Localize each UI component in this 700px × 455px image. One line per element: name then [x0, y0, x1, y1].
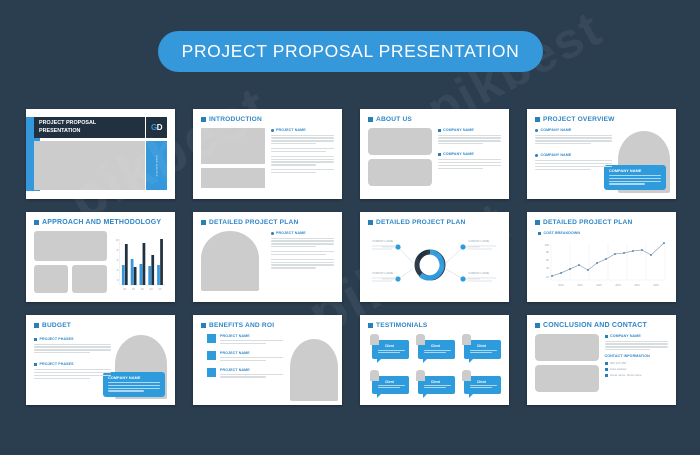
cover-website-strip: www.website: [146, 141, 167, 190]
benefit-icon: [207, 351, 216, 360]
svg-text:40: 40: [546, 266, 549, 270]
square-bullet-icon: [535, 220, 540, 225]
contact-heading: CONTACT INFORMATION: [605, 354, 669, 358]
line-chart: 100 80 60 40 20: [535, 238, 668, 292]
testimonial-card[interactable]: Client: [460, 334, 501, 365]
slide-heading: CONCLUSION AND CONTACT: [535, 322, 668, 329]
block-label-row: PROJECT PHASES: [34, 362, 111, 366]
bar-chart: 100 80 60 40 20: [112, 231, 167, 295]
overlay-card-title: COMPANY NAME: [609, 169, 661, 173]
cover-header-bar: PROJECT PROPOSAL PRESENTATION: [34, 117, 145, 138]
website-label: www.website: [155, 155, 159, 177]
slide-title: DETAILED PROJECT PLAN: [376, 219, 465, 226]
benefit-row: PROJECT NAME: [207, 368, 283, 380]
slide-title: PROJECT OVERVIEW: [543, 116, 615, 123]
svg-text:60: 60: [117, 259, 119, 263]
body-paragraph: [271, 169, 335, 173]
svg-text:2020: 2020: [558, 284, 564, 287]
svg-text:20: 20: [117, 279, 119, 283]
svg-text:2021: 2021: [577, 284, 583, 287]
svg-text:40: 40: [117, 269, 119, 273]
slide-title: APPROACH AND METHODOLOGY: [42, 219, 161, 226]
slide-heading: DETAILED PROJECT PLAN: [201, 219, 334, 226]
testimonial-name: Client: [431, 380, 451, 384]
svg-text:COMPANY NAME: COMPANY NAME: [372, 271, 393, 275]
square-bullet-icon: [438, 129, 441, 132]
dot-bullet-icon: [535, 129, 538, 132]
section-label-row: PROJECT NAME: [271, 231, 335, 235]
cover-title-line1: PROJECT PROPOSAL: [39, 120, 96, 126]
square-bullet-icon: [438, 153, 441, 156]
benefit-label: PROJECT NAME: [220, 368, 283, 372]
arch-image-placeholder: [201, 231, 259, 291]
svg-text:100: 100: [116, 239, 119, 243]
slide-title: ABOUT US: [376, 116, 412, 123]
section-label: COMPANY NAME: [610, 334, 641, 338]
arch-image-placeholder: [290, 339, 338, 401]
contact-item: 000 123 456: [605, 361, 669, 365]
svg-text:2024: 2024: [634, 284, 640, 287]
svg-text:2024: 2024: [158, 289, 162, 291]
slide-title: INTRODUCTION: [209, 116, 262, 123]
section-label: PROJECT NAME: [276, 128, 306, 132]
slide-testimonials[interactable]: TESTIMONIALS Client Client: [360, 315, 509, 405]
logo-badge: GD: [146, 117, 167, 138]
body-paragraph: [271, 135, 335, 145]
avatar: [462, 370, 471, 381]
dot-bullet-icon: [535, 154, 538, 157]
body-paragraph: [271, 156, 335, 166]
slide-budget[interactable]: BUDGET PROJECT PHASES PROJECT PHASES: [26, 315, 175, 405]
square-bullet-icon: [368, 117, 373, 122]
logo-letter-d: D: [157, 123, 162, 132]
svg-text:2025: 2025: [653, 284, 659, 287]
slide-heading: PROJECT OVERVIEW: [535, 116, 668, 123]
slide-detailed-plan-donut[interactable]: DETAILED PROJECT PLAN: [360, 212, 509, 302]
donut-diagram: COMPANY NAME COMPANY NAME COMPANY NAME C…: [368, 231, 501, 295]
slide-title: BENEFITS AND ROI: [209, 322, 274, 329]
square-bullet-icon: [201, 323, 206, 328]
body-paragraph: [605, 341, 669, 351]
slide-benefits-roi[interactable]: BENEFITS AND ROI PROJECT NAME PROJECT NA…: [193, 315, 342, 405]
section-label-row: COMPANY NAME: [605, 334, 669, 338]
overlay-card[interactable]: COMPANY NAME: [604, 165, 666, 190]
overlay-card[interactable]: COMPANY NAME: [103, 372, 165, 397]
section-label: COST BREAKDOWN: [544, 231, 581, 235]
contact-text: street name, block name: [610, 373, 642, 377]
square-bullet-icon: [368, 323, 373, 328]
svg-text:COMPANY NAME: COMPANY NAME: [372, 239, 393, 243]
square-bullet-icon: [34, 220, 39, 225]
block-label: PROJECT PHASES: [40, 337, 74, 341]
slide-approach-methodology[interactable]: APPROACH AND METHODOLOGY: [26, 212, 175, 302]
svg-text:80: 80: [546, 250, 549, 254]
slide-title: TESTIMONIALS: [376, 322, 428, 329]
contact-item: www.website: [605, 367, 669, 371]
body-paragraph: [271, 259, 335, 269]
block-label-row: COMPANY NAME: [438, 152, 502, 156]
cover-title-line2: PRESENTATION: [39, 128, 80, 134]
block-label-row: COMPANY NAME: [535, 128, 612, 132]
block-label-row: COMPANY NAME: [535, 153, 612, 157]
testimonial-name: Client: [431, 344, 451, 348]
square-bullet-icon: [605, 335, 608, 338]
square-bullet-icon: [538, 232, 541, 235]
page-title: PROJECT PROPOSAL PRESENTATION: [182, 41, 520, 62]
square-bullet-icon: [368, 220, 373, 225]
svg-text:100: 100: [545, 243, 550, 247]
square-bullet-icon: [201, 220, 206, 225]
testimonial-card[interactable]: Client: [414, 334, 455, 365]
dot-bullet-icon: [271, 232, 274, 235]
contact-text: 000 123 456: [610, 361, 626, 365]
benefit-label: PROJECT NAME: [220, 334, 283, 338]
slide-grid: PROJECT PROPOSAL PRESENTATION GD www.web…: [26, 109, 676, 405]
svg-text:COMPANY NAME: COMPANY NAME: [468, 239, 489, 243]
square-bullet-icon: [34, 338, 37, 341]
slide-heading: TESTIMONIALS: [368, 322, 501, 329]
globe-icon: [605, 368, 608, 371]
slide-heading: DETAILED PROJECT PLAN: [535, 219, 668, 226]
benefit-row: PROJECT NAME: [207, 334, 283, 346]
svg-text:COMPANY NAME: COMPANY NAME: [468, 271, 489, 275]
block-label: COMPANY NAME: [541, 153, 572, 157]
block-label: PROJECT PHASES: [40, 362, 74, 366]
slide-heading: ABOUT US: [368, 116, 501, 123]
contact-text: www.website: [610, 367, 627, 371]
slide-heading: DETAILED PROJECT PLAN: [368, 219, 501, 226]
testimonial-name: Client: [385, 344, 405, 348]
svg-text:2022: 2022: [596, 284, 602, 287]
slide-title: CONCLUSION AND CONTACT: [543, 322, 647, 329]
benefit-row: PROJECT NAME: [207, 351, 283, 363]
testimonial-card[interactable]: Client: [460, 370, 501, 401]
slide-title: BUDGET: [42, 322, 71, 329]
svg-text:60: 60: [546, 258, 549, 262]
slide-heading: APPROACH AND METHODOLOGY: [34, 219, 167, 226]
slide-heading: INTRODUCTION: [201, 116, 334, 123]
contact-item: street name, block name: [605, 373, 669, 377]
slide-detailed-plan-line[interactable]: DETAILED PROJECT PLAN COST BREAKDOWN: [527, 212, 676, 302]
benefit-icon: [207, 368, 216, 377]
svg-text:20: 20: [546, 275, 549, 279]
svg-text:2023: 2023: [149, 289, 153, 291]
testimonial-card[interactable]: Client: [414, 370, 455, 401]
section-label-row: PROJECT NAME: [271, 128, 335, 132]
slide-cover[interactable]: PROJECT PROPOSAL PRESENTATION GD www.web…: [26, 109, 175, 199]
testimonial-name: Client: [477, 344, 497, 348]
block-label-row: COMPANY NAME: [438, 128, 502, 132]
benefit-icon: [207, 334, 216, 343]
testimonial-name: Client: [385, 380, 405, 384]
slide-conclusion-contact[interactable]: CONCLUSION AND CONTACT COMPANY NAME CONT…: [527, 315, 676, 405]
avatar: [462, 334, 471, 345]
square-bullet-icon: [34, 363, 37, 366]
block-label: COMPANY NAME: [443, 128, 474, 132]
slide-title: DETAILED PROJECT PLAN: [209, 219, 298, 226]
body-paragraph: [271, 148, 335, 152]
location-icon: [605, 374, 608, 377]
slide-project-overview[interactable]: PROJECT OVERVIEW COMPANY NAME COMPANY NA…: [527, 109, 676, 199]
square-bullet-icon: [535, 117, 540, 122]
svg-text:2022: 2022: [141, 289, 145, 291]
avatar: [370, 334, 379, 345]
phone-icon: [605, 362, 608, 365]
square-bullet-icon: [34, 323, 39, 328]
testimonial-card[interactable]: Client: [368, 334, 409, 365]
slide-introduction[interactable]: INTRODUCTION PROJECT NAME: [193, 109, 342, 199]
slide-about-us[interactable]: ABOUT US COMPANY NAME: [360, 109, 509, 199]
body-paragraph: [271, 251, 335, 255]
block-label-row: PROJECT PHASES: [34, 337, 111, 341]
block-label: COMPANY NAME: [443, 152, 474, 156]
presentation-title-banner: PROJECT PROPOSAL PRESENTATION: [158, 31, 543, 72]
cover-image-placeholder: [34, 141, 145, 190]
slide-title: DETAILED PROJECT PLAN: [543, 219, 632, 226]
section-label: PROJECT NAME: [276, 231, 306, 235]
slide-heading: BENEFITS AND ROI: [201, 322, 334, 329]
block-label: COMPANY NAME: [541, 128, 572, 132]
slide-heading: BUDGET: [34, 322, 167, 329]
square-bullet-icon: [201, 117, 206, 122]
avatar: [370, 370, 379, 381]
svg-text:2023: 2023: [615, 284, 621, 287]
square-bullet-icon: [535, 323, 540, 328]
body-paragraph: [271, 238, 335, 248]
dot-bullet-icon: [271, 129, 274, 132]
avatar: [416, 334, 425, 345]
section-label-row: COST BREAKDOWN: [538, 231, 668, 235]
svg-text:80: 80: [117, 249, 119, 253]
slide-detailed-plan-text[interactable]: DETAILED PROJECT PLAN PROJECT NAME: [193, 212, 342, 302]
avatar: [416, 370, 425, 381]
testimonial-card[interactable]: Client: [368, 370, 409, 401]
overlay-card-title: COMPANY NAME: [108, 376, 160, 380]
svg-text:2021: 2021: [132, 289, 136, 291]
testimonial-name: Client: [477, 380, 497, 384]
svg-text:2020: 2020: [123, 289, 127, 291]
benefit-label: PROJECT NAME: [220, 351, 283, 355]
